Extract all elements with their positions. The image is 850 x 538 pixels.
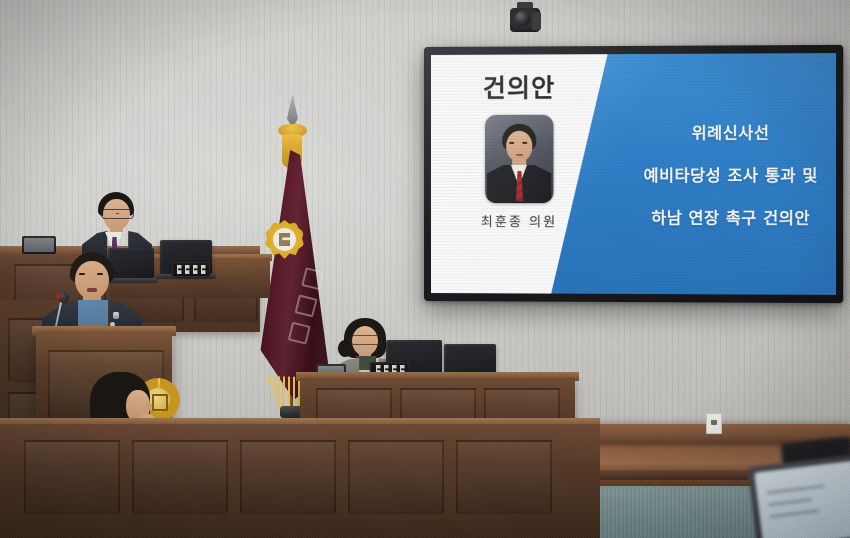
nameplate-upper-desk [172,262,210,277]
emblem-core [273,228,296,251]
plate-char [177,265,182,274]
camera-arm [532,12,541,30]
glasses-icon [101,209,134,219]
slide-title: 건의안 [483,68,555,104]
member-portrait [485,115,553,203]
slide-right-panel: 위례신사선 예비타당성 조사 통과 및 하남 연장 촉구 건의안 [616,53,836,295]
camera-lens [515,11,530,26]
speaker-face [75,261,109,299]
bench-panel [456,440,552,514]
laptop-screen [446,346,494,375]
speaker-eye-left [79,273,85,275]
flag-finial-icon [287,94,298,128]
council-chamber-photo: 건의안 최훈종 의원 위례신사선 예비타당성 조사 통과 및 하남 [0,0,850,538]
slide-headline-line-1: 위례신사선 [692,119,770,143]
plate-char [201,265,206,274]
bench-panel [240,440,336,514]
microphone-indicator [56,294,61,299]
front-bench [0,424,600,538]
presentation-display: 건의안 최훈종 의원 위례신사선 예비타당성 조사 통과 및 하남 [424,45,843,303]
portrait-mouth [516,154,523,156]
portrait-caption: 최훈종 의원 [481,211,557,230]
flag-char [294,294,317,317]
slide-content: 건의안 최훈종 의원 위례신사선 예비타당성 조사 통과 및 하남 [431,53,836,295]
portrait-eye-left [509,142,514,144]
bench-panel [348,440,444,514]
attendee-nose [146,403,152,409]
plate-char [185,265,190,274]
plate-char [193,265,198,274]
lapel-pin-icon [113,312,119,319]
power-outlet-icon [706,413,722,434]
speaker-mouth [87,288,97,292]
portrait-eye-right [522,142,527,144]
glasses-icon [350,335,382,345]
flag-char [287,321,310,344]
foreground-laptop [747,445,850,538]
ptz-camera-icon [508,2,542,38]
portrait-face [506,131,532,162]
bench-panel [24,440,120,514]
slide-left-panel: 건의안 최훈종 의원 [431,54,608,294]
speaker-eye-right [97,273,103,275]
slide-headline-line-2: 예비타당성 조사 통과 및 [644,162,818,186]
slide-headline-line-3: 하남 연장 촉구 건의안 [651,204,810,229]
flag-char [301,267,324,290]
bench-panel [132,440,228,514]
